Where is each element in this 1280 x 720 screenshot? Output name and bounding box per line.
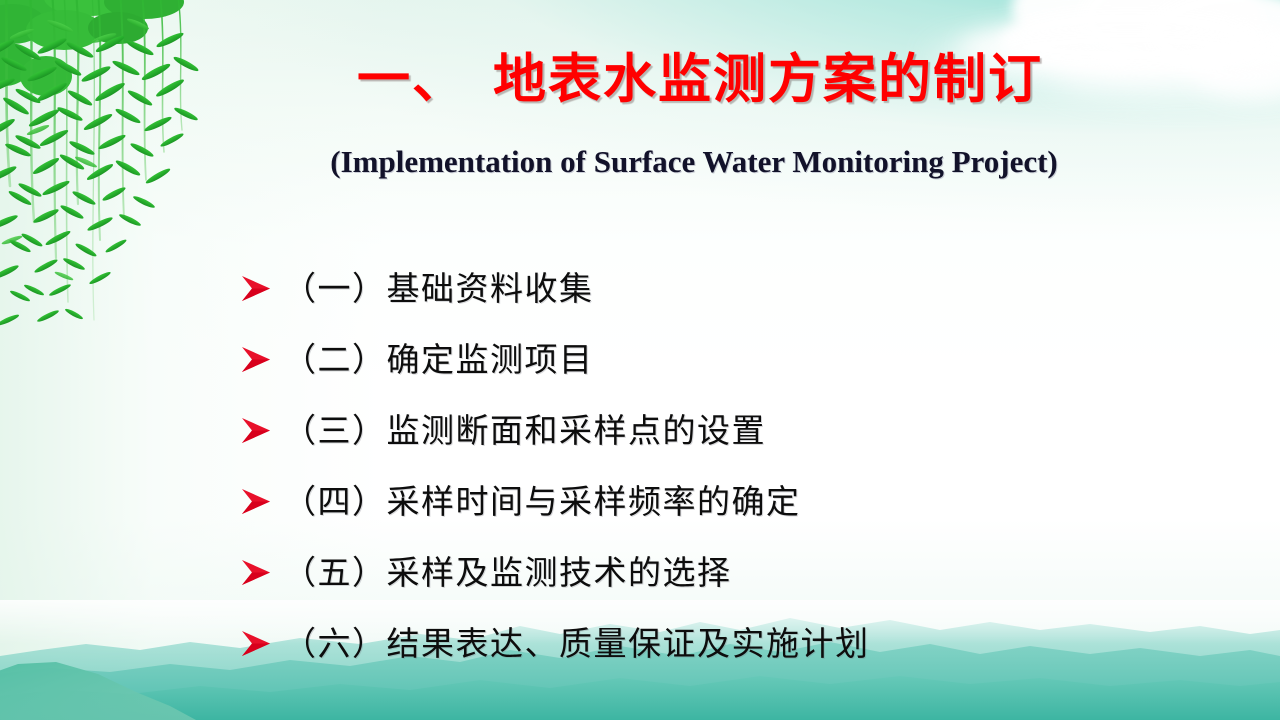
- red-arrow-bullet-icon: [239, 556, 283, 590]
- list-item[interactable]: （一）基础资料收集: [239, 253, 1219, 324]
- list-item-label: （四）采样时间与采样频率的确定: [283, 480, 801, 524]
- red-arrow-bullet-icon: [239, 627, 283, 661]
- list-item-label: （一）基础资料收集: [283, 267, 594, 311]
- slide-subtitle-english: (Implementation of Surface Water Monitor…: [0, 142, 1280, 182]
- agenda-list: （一）基础资料收集 （二）确定监测项目 （三）监测断面和采样点的设置 （四）采样…: [239, 253, 1219, 679]
- list-item[interactable]: （四）采样时间与采样频率的确定: [239, 466, 1219, 537]
- slide-title-chinese: 一、地表水监测方案的制订: [0, 46, 1280, 112]
- list-item-label: （六）结果表达、质量保证及实施计划: [283, 622, 870, 666]
- slide-title-text: 地表水监测方案的制订: [493, 48, 1043, 110]
- list-item[interactable]: （二）确定监测项目: [239, 324, 1219, 395]
- list-item[interactable]: （五）采样及监测技术的选择: [239, 537, 1219, 608]
- list-item-label: （二）确定监测项目: [283, 338, 594, 382]
- list-item-label: （五）采样及监测技术的选择: [283, 551, 732, 595]
- list-item[interactable]: （三）监测断面和采样点的设置: [239, 395, 1219, 466]
- slide-title-number: 一、: [357, 48, 467, 110]
- red-arrow-bullet-icon: [239, 414, 283, 448]
- list-item[interactable]: （六）结果表达、质量保证及实施计划: [239, 608, 1219, 679]
- red-arrow-bullet-icon: [239, 485, 283, 519]
- red-arrow-bullet-icon: [239, 343, 283, 377]
- red-arrow-bullet-icon: [239, 272, 283, 306]
- list-item-label: （三）监测断面和采样点的设置: [283, 409, 766, 453]
- slide-canvas: 一、地表水监测方案的制订 (Implementation of Surface …: [0, 0, 1280, 720]
